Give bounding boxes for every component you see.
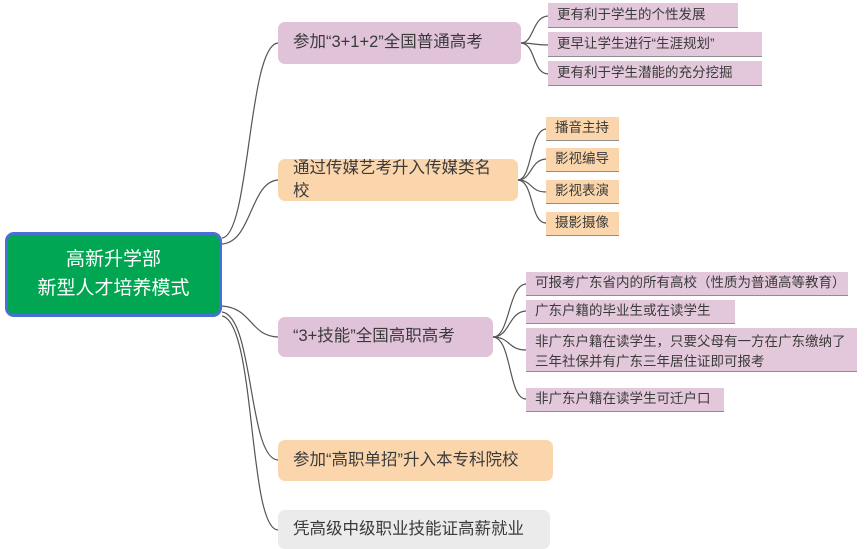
branch-node-1[interactable]: 参加“3+1+2”全国普通高考 xyxy=(278,22,521,64)
connector-b1-c2 xyxy=(521,43,548,45)
connector-b2-c1 xyxy=(518,129,546,180)
leaf-node-2-2[interactable]: 影视编导 xyxy=(546,148,619,172)
leaf-node-3-1[interactable]: 可报考广东省内的所有高校（性质为普通高等教育） xyxy=(526,272,848,296)
connector-b3-c3 xyxy=(493,337,526,350)
connector-b3-c4 xyxy=(493,337,526,399)
leaf-node-2-4[interactable]: 摄影摄像 xyxy=(546,212,619,236)
connector-root-branch3 xyxy=(222,306,278,337)
connector-root-branch2 xyxy=(222,180,278,244)
leaf-node-1-1[interactable]: 更有利于学生的个性发展 xyxy=(548,3,738,28)
connector-b2-c4 xyxy=(518,180,546,223)
connector-b2-c3 xyxy=(518,180,546,192)
mindmap-canvas: 高新升学部 新型人才培养模式 参加“3+1+2”全国普通高考 更有利于学生的个性… xyxy=(0,0,866,549)
leaf-node-1-2[interactable]: 更早让学生进行“生涯规划” xyxy=(548,32,762,57)
leaf-node-3-3[interactable]: 非广东户籍在读学生，只要父母有一方在广东缴纳了三年社保并有广东三年居住证即可报考 xyxy=(526,328,857,372)
branch-node-5[interactable]: 凭高级中级职业技能证高薪就业 xyxy=(278,510,550,549)
connector-b3-c1 xyxy=(493,284,526,337)
connector-b1-c1 xyxy=(521,16,548,43)
leaf-node-3-2[interactable]: 广东户籍的毕业生或在读学生 xyxy=(526,300,735,324)
branch-node-4[interactable]: 参加“高职单招”升入本专科院校 xyxy=(278,440,553,481)
leaf-node-2-3[interactable]: 影视表演 xyxy=(546,180,619,204)
leaf-node-3-4[interactable]: 非广东户籍在读学生可迁户口 xyxy=(526,388,724,412)
connector-root-branch5 xyxy=(222,316,278,530)
connector-root-branch4 xyxy=(222,312,278,460)
leaf-node-1-3[interactable]: 更有利于学生潜能的充分挖掘 xyxy=(548,61,762,86)
connector-b1-c3 xyxy=(521,43,548,74)
leaf-node-2-1[interactable]: 播音主持 xyxy=(546,117,619,141)
connector-root-branch1 xyxy=(222,43,278,238)
connector-b2-c2 xyxy=(518,159,546,180)
branch-node-2[interactable]: 通过传媒艺考升入传媒类名校 xyxy=(278,159,518,201)
connector-b3-c2 xyxy=(493,311,526,337)
branch-node-3[interactable]: “3+技能”全国高职高考 xyxy=(278,317,493,357)
root-node[interactable]: 高新升学部 新型人才培养模式 xyxy=(5,232,222,317)
